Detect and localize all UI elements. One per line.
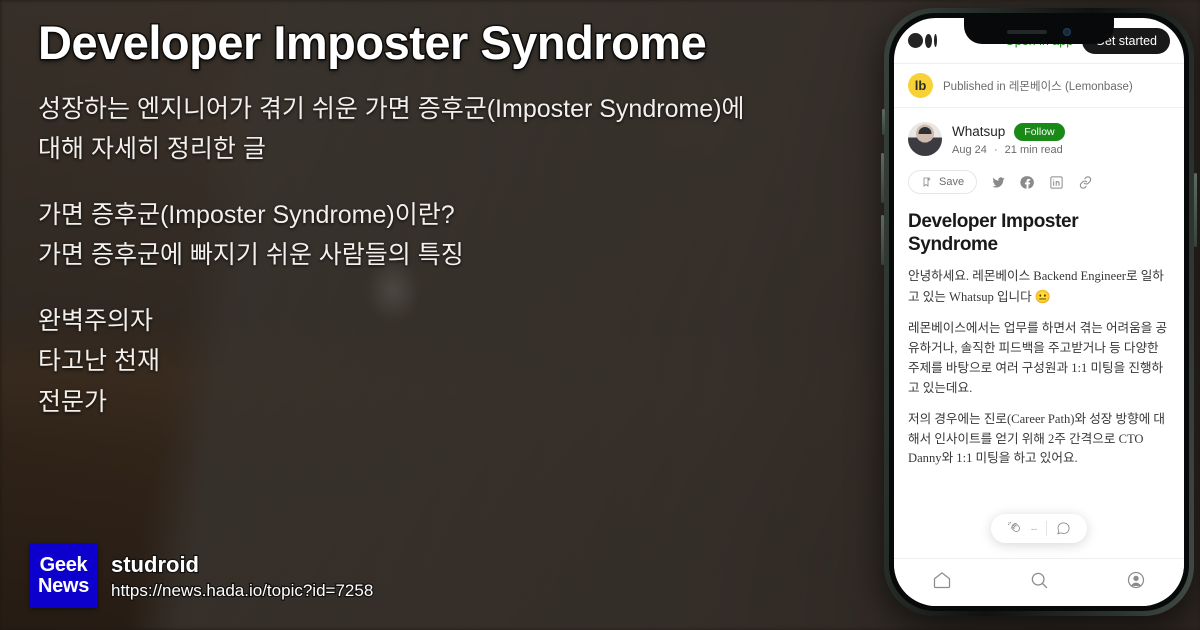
meta-separator: · <box>994 144 998 156</box>
submitter-name: studroid <box>111 552 373 578</box>
left-content-column: Developer Imposter Syndrome 성장하는 엔지니어가 겪… <box>0 0 880 630</box>
clap-count: -- <box>1031 524 1037 534</box>
geeknews-logo-line2: News <box>38 576 89 597</box>
footer-brand: Geek News studroid https://news.hada.io/… <box>30 544 373 608</box>
page-title: Developer Imposter Syndrome <box>38 18 860 69</box>
article-action-row: Save <box>894 164 1184 206</box>
publication-label: Published in 레몬베이스 (Lemonbase) <box>943 78 1133 94</box>
clap-bar: -- <box>991 514 1087 543</box>
neutral-face-emoji: 😐 <box>1035 289 1051 304</box>
clap-bar-divider <box>1046 521 1047 536</box>
save-button[interactable]: Save <box>908 170 977 194</box>
source-url[interactable]: https://news.hada.io/topic?id=7258 <box>111 581 373 601</box>
author-avatar[interactable] <box>908 122 942 156</box>
summary-item-2: 타고난 천재 <box>38 341 838 382</box>
summary-block: 성장하는 엔지니어가 겪기 쉬운 가면 증후군(Imposter Syndrom… <box>38 89 838 423</box>
facebook-icon[interactable] <box>1020 175 1035 190</box>
summary-spacer-2 <box>38 276 838 301</box>
medium-logo[interactable] <box>908 33 937 48</box>
article-meta: Aug 24 · 21 min read <box>952 144 1065 156</box>
link-icon[interactable] <box>1078 175 1093 190</box>
read-time: 21 min read <box>1005 144 1063 156</box>
author-meta: Whatsup Follow Aug 24 · 21 min read <box>952 123 1065 156</box>
geeknews-logo[interactable]: Geek News <box>30 544 97 608</box>
medium-logo-dot-small <box>934 34 937 47</box>
summary-line-3: 가면 증후군(Imposter Syndrome)이란? <box>38 195 838 236</box>
twitter-icon[interactable] <box>991 175 1006 190</box>
author-name[interactable]: Whatsup <box>952 124 1005 139</box>
summary-line-1: 성장하는 엔지니어가 겪기 쉬운 가면 증후군(Imposter Syndrom… <box>38 89 838 130</box>
front-camera <box>1063 28 1071 36</box>
clap-icon[interactable] <box>1007 521 1022 536</box>
summary-item-3: 전문가 <box>38 382 838 423</box>
medium-logo-dot-large <box>908 33 923 48</box>
geeknews-logo-line1: Geek <box>40 555 88 576</box>
bookmark-add-icon <box>921 176 933 188</box>
profile-icon[interactable] <box>1126 570 1146 595</box>
earpiece-speaker <box>1007 30 1047 34</box>
author-name-row: Whatsup Follow <box>952 123 1065 141</box>
linkedin-icon[interactable] <box>1049 175 1064 190</box>
power-button[interactable] <box>1194 173 1197 247</box>
home-icon[interactable] <box>932 570 952 595</box>
mute-switch[interactable] <box>882 109 885 135</box>
article-title: Developer Imposter Syndrome <box>908 210 1170 256</box>
author-row: Whatsup Follow Aug 24 · 21 min read <box>894 108 1184 164</box>
search-icon[interactable] <box>1029 570 1049 595</box>
article-body: Developer Imposter Syndrome 안녕하세요. 레몬베이스… <box>894 206 1184 469</box>
article-paragraph-1: 안녕하세요. 레몬베이스 Backend Engineer로 일하고 있는 Wh… <box>908 267 1170 308</box>
phone-mockup: Open in app Get started lb Published in … <box>884 8 1194 616</box>
phone-bezel: Open in app Get started lb Published in … <box>889 13 1189 611</box>
save-button-label: Save <box>939 176 964 188</box>
summary-item-1: 완벽주의자 <box>38 301 838 342</box>
article-paragraph-3: 저의 경우에는 진로(Career Path)와 성장 방향에 대해서 인사이트… <box>908 410 1170 470</box>
volume-up-button[interactable] <box>881 153 884 203</box>
phone-notch <box>964 18 1114 44</box>
medium-logo-dot-medium <box>925 34 932 48</box>
summary-clip-region: 성장하는 엔지니어가 겪기 쉬운 가면 증후군(Imposter Syndrom… <box>38 69 860 537</box>
summary-spacer-1 <box>38 170 838 195</box>
phone-screen: Open in app Get started lb Published in … <box>894 18 1184 606</box>
footer-text-group: studroid https://news.hada.io/topic?id=7… <box>111 552 373 601</box>
publication-avatar: lb <box>908 73 933 98</box>
bottom-navigation <box>894 558 1184 606</box>
summary-line-4: 가면 증후군에 빠지기 쉬운 사람들의 특징 <box>38 235 838 276</box>
volume-down-button[interactable] <box>881 215 884 265</box>
summary-line-2: 대해 자세히 정리한 글 <box>38 129 838 170</box>
publication-row[interactable]: lb Published in 레몬베이스 (Lemonbase) <box>894 64 1184 108</box>
publish-date: Aug 24 <box>952 144 987 156</box>
comment-icon[interactable] <box>1056 521 1071 536</box>
article-paragraph-2: 레몬베이스에서는 업무를 하면서 겪는 어려움을 공유하거나, 솔직한 피드백을… <box>908 319 1170 399</box>
follow-button[interactable]: Follow <box>1014 123 1064 141</box>
